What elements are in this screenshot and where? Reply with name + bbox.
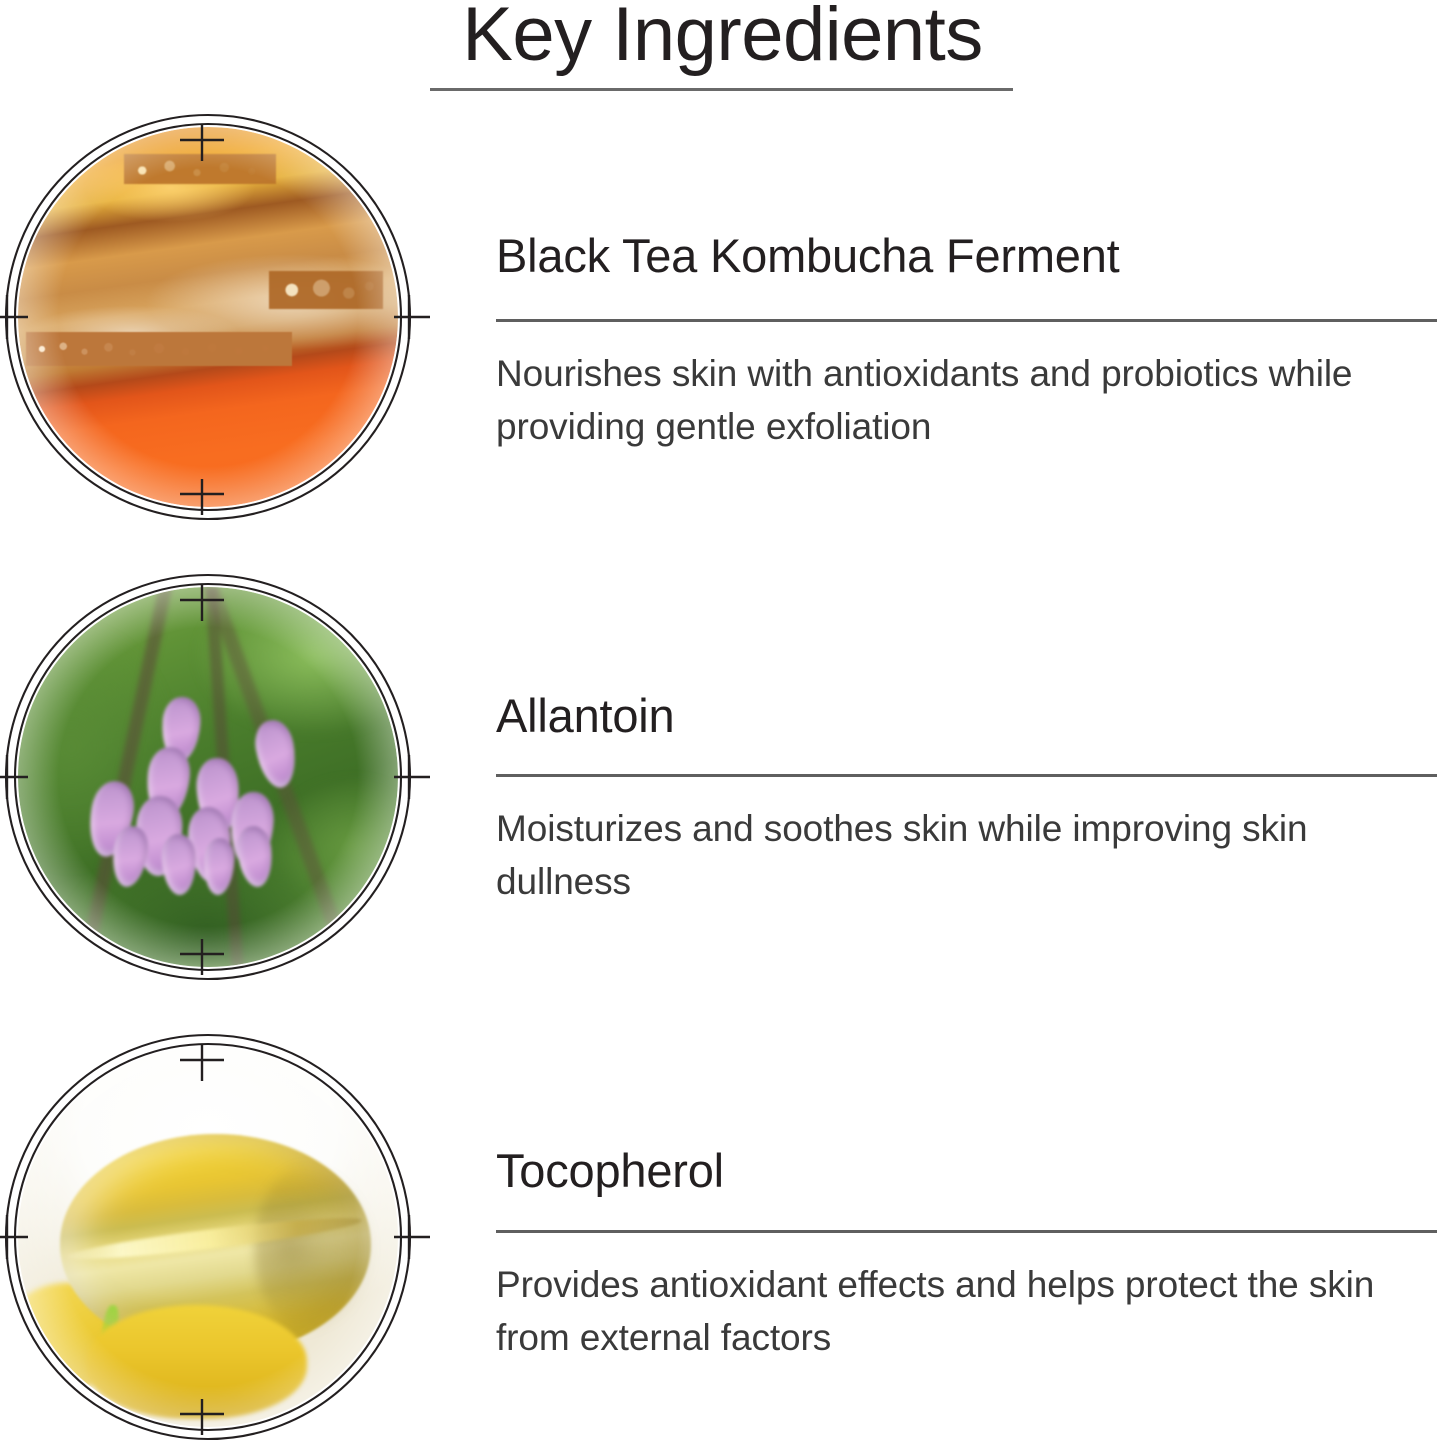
ingredient-image-badge [4,113,412,521]
ingredient-name: Black Tea Kombucha Ferment [496,230,1120,282]
ingredient-row: Black Tea Kombucha Ferment Nourishes ski… [0,105,1447,525]
title-underline [430,88,1013,91]
ingredient-row: Tocopherol Provides antioxidant effects … [0,1025,1447,1444]
ingredient-divider [496,1230,1437,1233]
registration-frame-icon [4,1033,412,1441]
key-ingredients-page: Key Ingredients [0,0,1447,1444]
ingredient-name: Allantoin [496,690,675,742]
ingredient-description: Moisturizes and soothes skin while impro… [496,803,1447,908]
ingredient-divider [496,774,1437,777]
registration-frame-icon [4,573,412,981]
ingredient-name: Tocopherol [496,1145,724,1197]
page-header: Key Ingredients [430,0,1015,91]
ingredient-description: Nourishes skin with antioxidants and pro… [496,348,1447,453]
page-title: Key Ingredients [430,0,1015,76]
ingredient-image-badge [4,573,412,981]
registration-frame-icon [4,113,412,521]
ingredient-divider [496,319,1437,322]
ingredient-row: Allantoin Moisturizes and soothes skin w… [0,565,1447,985]
ingredient-text-column: Tocopherol Provides antioxidant effects … [496,1025,1437,1444]
ingredient-image-badge [4,1033,412,1441]
ingredient-text-column: Black Tea Kombucha Ferment Nourishes ski… [496,105,1437,525]
ingredient-description: Provides antioxidant effects and helps p… [496,1259,1447,1364]
ingredient-text-column: Allantoin Moisturizes and soothes skin w… [496,565,1437,985]
